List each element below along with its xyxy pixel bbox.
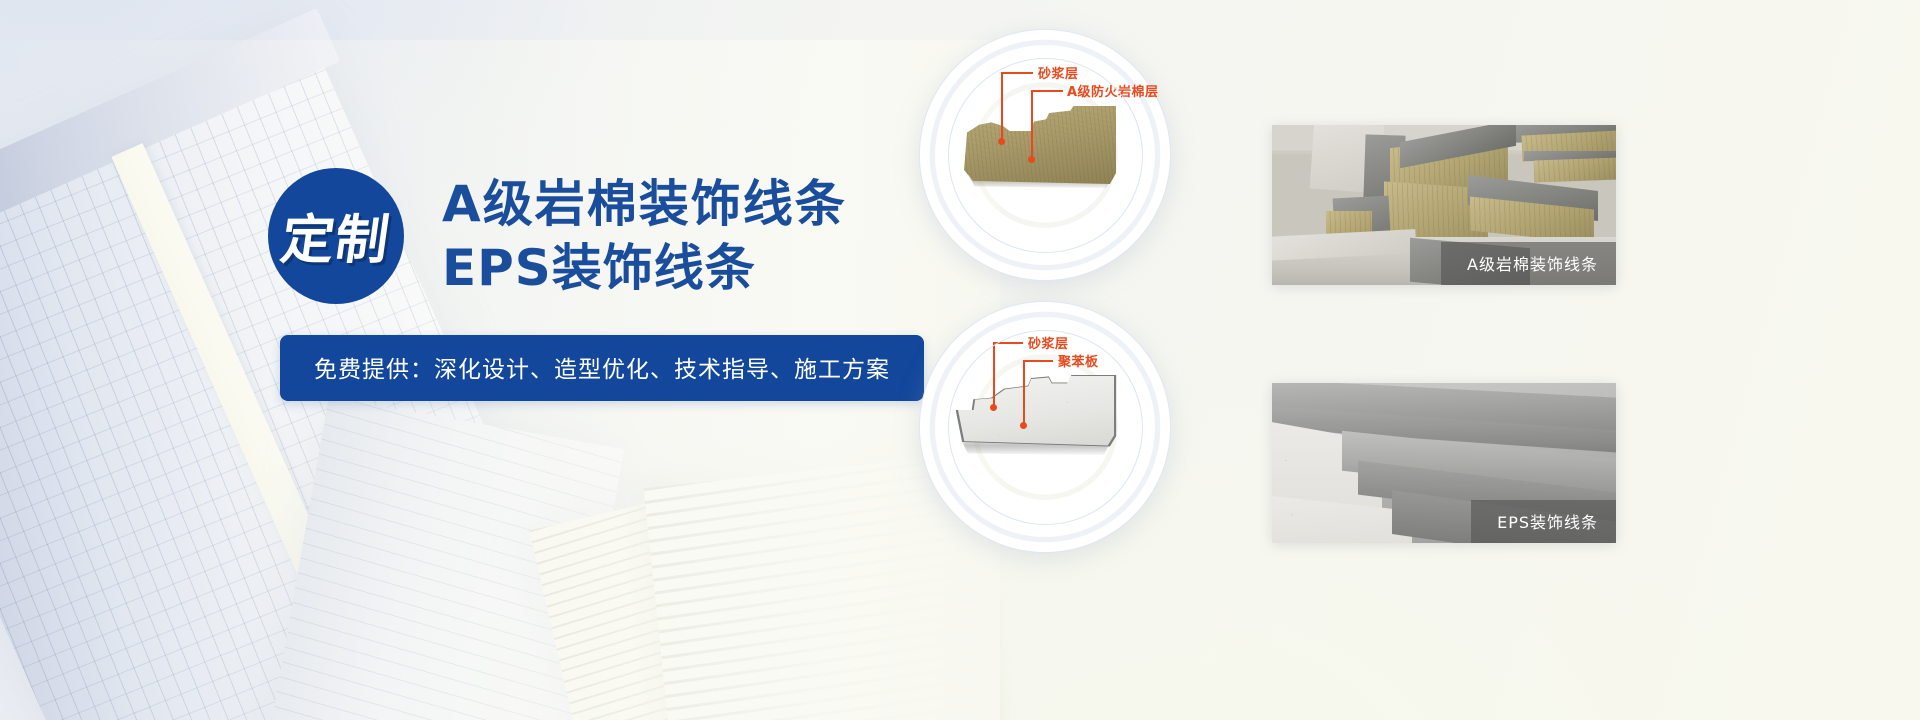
eps-cross-section: [958, 376, 1114, 450]
callout-label-rockwool: A级防火岩棉层: [1067, 81, 1159, 100]
product-photo-eps: EPS装饰线条: [1272, 383, 1616, 543]
callout-circle-rockwool: 砂浆层 A级防火岩棉层: [920, 30, 1170, 280]
rockwool-body: [964, 106, 1116, 184]
leader-line-rockwool: [1031, 90, 1033, 160]
custom-badge: 定制: [268, 168, 404, 304]
callout-circle-eps: 砂浆层 聚苯板: [920, 302, 1170, 552]
rockwool-shadow: [966, 176, 1112, 188]
free-service-text: 免费提供：深化设计、造型优化、技术指导、施工方案: [314, 357, 890, 383]
leader-line-mortar: [1001, 72, 1003, 142]
leader-dot-mortar-eps: [990, 404, 997, 411]
product-caption-eps: EPS装饰线条: [1471, 500, 1616, 543]
leader-elbow-eps-board: [1023, 360, 1053, 362]
leader-dot-eps-board: [1020, 422, 1027, 429]
callout-label-mortar-eps: 砂浆层: [1028, 333, 1069, 352]
promo-banner: 定制 A级岩棉装饰线条 EPS装饰线条 免费提供：深化设计、造型优化、技术指导、…: [0, 0, 1920, 720]
eps-body: [958, 376, 1114, 450]
headline-line-1: A级岩棉装饰线条: [442, 172, 847, 236]
free-service-bar: 免费提供：深化设计、造型优化、技术指导、施工方案: [280, 335, 924, 401]
page-title: A级岩棉装饰线条 EPS装饰线条: [442, 172, 847, 300]
product-caption-rockwool: A级岩棉装饰线条: [1441, 242, 1616, 285]
callout-label-eps-board: 聚苯板: [1058, 351, 1099, 370]
rockwool-cross-section: [964, 106, 1116, 184]
product-photo-rockwool: A级岩棉装饰线条: [1272, 125, 1616, 285]
headline-line-2: EPS装饰线条: [442, 236, 847, 300]
product-card-eps: EPS装饰线条 砂浆层 聚苯板: [1000, 290, 1620, 610]
product-card-rockwool: A级岩棉装饰线条 砂浆层 A级防火岩棉层: [1000, 10, 1620, 310]
eps-shadow: [962, 442, 1110, 455]
callout-label-mortar: 砂浆层: [1038, 63, 1079, 82]
headline-block: 定制 A级岩棉装饰线条 EPS装饰线条 免费提供：深化设计、造型优化、技术指导、…: [268, 160, 888, 480]
leader-elbow-mortar-eps: [993, 342, 1023, 344]
leader-line-eps-board: [1023, 360, 1025, 426]
leader-dot-mortar: [998, 138, 1005, 145]
leader-elbow-rockwool: [1031, 90, 1063, 92]
eps-outline: [956, 375, 1117, 451]
leader-dot-rockwool: [1028, 156, 1035, 163]
custom-badge-label: 定制: [277, 198, 396, 274]
leader-line-mortar-eps: [993, 342, 995, 408]
leader-elbow-mortar: [1001, 72, 1033, 74]
